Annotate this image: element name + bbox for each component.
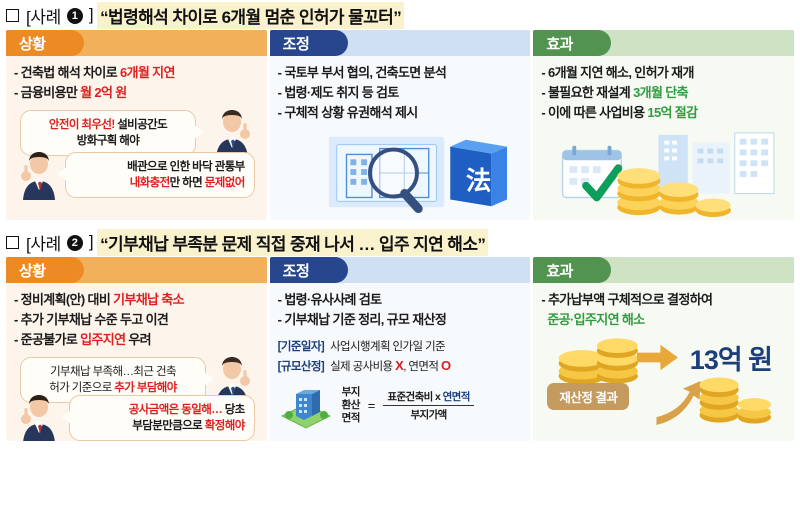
bullet-text: - 정비계획(안) 대비 (14, 292, 113, 307)
equals-sign: = (368, 398, 376, 413)
infographic-page: [사례 1 ] “법령해석 차이로 6개월 멈춘 인허가 물꼬터” 상황 - 건… (0, 0, 800, 526)
header-label: 효과 (546, 33, 573, 54)
speech-bubble: 배관으로 인한 바닥 관통부 내화충전만 하면 문제없어 (65, 152, 255, 199)
bullet-highlight: 월 2억 원 (80, 85, 126, 100)
dialogue-area: 안전이 최우선! 설비공간도 방화구획 해야 (14, 108, 259, 200)
dialogue-area: 기부채납 부족해…최근 건축 허가 기준으로 추가 부담해야 (14, 355, 259, 441)
curved-arrow-icon (657, 381, 701, 425)
header-label: 상황 (19, 33, 46, 54)
case-1-title: “법령해석 차이로 6개월 멈춘 인허가 물꼬터” (97, 2, 404, 29)
result-amount: 13억 원 (690, 338, 772, 377)
bubble-text: 방화구획 해야 (77, 135, 139, 147)
bullet-text: - 준공불가로 (14, 332, 80, 347)
formula-left-line: 면적 (342, 412, 360, 425)
criteria-list: [기준일자] 사업시행계획 인가일 기준 [규모산정] 실제 공사비용 X, 연… (278, 339, 523, 377)
bubble-highlight: 추가 부담해야 (114, 382, 176, 394)
case-1-effect-panel: 효과 - 6개월 지연 해소, 인허가 재개 - 불필요한 재설계 3개월 단축… (533, 30, 794, 220)
criteria-row: [기준일자] 사업시행계획 인가일 기준 (278, 339, 523, 356)
case-1-adjustment-panel: 조정 - 국토부 부서 협의, 건축도면 분석 - 법령·제도 취지 등 검토 … (270, 30, 531, 220)
bubble-highlight: 내화충전 (130, 177, 170, 189)
official-avatar (210, 108, 254, 158)
bullet-highlight: 15억 절감 (647, 105, 697, 120)
x-mark-icon: X (395, 358, 403, 373)
bullet-text: - 금융비용만 (14, 85, 80, 100)
bullet-item: - 금융비용만 월 2억 원 (14, 83, 259, 103)
bullet-item: - 정비계획(안) 대비 기부채납 축소 (14, 290, 259, 310)
formula-left-line: 환산 (342, 399, 360, 412)
bullet-highlight: 3개월 단축 (633, 85, 688, 100)
bubble-text: 부담분만큼으로 (132, 420, 204, 432)
coins-icon-result (700, 377, 771, 423)
bubble-highlight: 공사금액은 동일해… (129, 404, 222, 416)
case-1-number-badge: 1 (67, 8, 83, 24)
formula-left-term: 부지 환산 면적 (342, 386, 360, 424)
situation-body: - 건축법 해석 차이로 6개월 지연 - 금융비용만 월 2억 원 안전이 최… (6, 56, 267, 200)
recalculation-result: 13억 원 재산정 결과 (541, 332, 786, 428)
case-1-situation-panel: 상황 - 건축법 해석 차이로 6개월 지연 - 금융비용만 월 2억 원 안전… (6, 30, 267, 220)
official-avatar (17, 150, 61, 200)
situation-body: - 정비계획(안) 대비 기부채납 축소 - 추가 기부채납 수준 두고 이견 … (6, 283, 267, 440)
header-tab: 효과 (533, 257, 611, 283)
effect-header: 효과 (533, 257, 794, 283)
numerator-text: 표준건축비 x (387, 391, 442, 403)
bullet-item: - 구체적 상황 유권해석 제시 (278, 103, 523, 123)
bullet-item: - 법령·제도 취지 등 검토 (278, 83, 523, 103)
effect-body: - 추가납부액 구체적으로 결정하여 준공·입주지연 해소 (533, 283, 794, 428)
case-2-effect-panel: 효과 - 추가납부액 구체적으로 결정하여 준공·입주지연 해소 (533, 257, 794, 440)
bullet-highlight: 입주지연 (80, 332, 125, 347)
adjustment-body: - 법령·유사사례 검토 - 기부채납 기준 정리, 규모 재산정 [기준일자]… (270, 283, 531, 428)
case-2-title: “기부채납 부족분 문제 직접 중재 나서 … 입주 지연 해소” (97, 229, 488, 256)
bubble-text: 만 하면 (170, 177, 205, 189)
bubble-text: 설비공간도 (115, 119, 168, 131)
calendar-coins-buildings-illustration (541, 128, 786, 220)
right-arrow-icon (637, 345, 678, 370)
bullet-item: - 법령·유사사례 검토 (278, 290, 523, 310)
coins-icon-large (559, 338, 638, 384)
situation-header: 상황 (6, 257, 267, 283)
formula-fraction: 표준건축비 x 연면적 부지가액 (383, 389, 473, 422)
recalculation-label: 재산정 결과 (547, 383, 629, 410)
numerator-highlight: 연면적 (443, 391, 470, 403)
effect-body: - 6개월 지연 해소, 인허가 재개 - 불필요한 재설계 3개월 단축 - … (533, 56, 794, 220)
bubble-tail-icon (194, 125, 204, 139)
bullet-highlight: 6개월 지연 (120, 65, 175, 80)
header-label: 효과 (546, 260, 573, 281)
conversion-formula: 부지 환산 면적 = 표준건축비 x 연면적 부지가액 (278, 382, 523, 428)
criteria-text: 실제 공사비용 (330, 361, 395, 373)
bubble-highlight: 확정해야 (205, 420, 245, 432)
header-label: 상황 (19, 260, 46, 281)
site-3d-illustration (278, 382, 334, 428)
criteria-value: 실제 공사비용 X, 연면적 O (330, 356, 450, 376)
bullet-item: - 추가납부액 구체적으로 결정하여 (541, 290, 786, 310)
case-2-heading: [사례 2 ] “기부채납 부족분 문제 직접 중재 나서 … 입주 지연 해소… (0, 227, 800, 257)
criteria-text: , 연면적 (403, 361, 441, 373)
o-mark-icon: O (441, 358, 451, 373)
bubble-text: 당초 (222, 404, 245, 416)
blueprint-magnifier-lawbook-illustration: 法 (278, 128, 523, 220)
criteria-key: [규모산정] (278, 359, 324, 376)
bubble-text: 배관으로 인한 바닥 관통부 (127, 161, 245, 173)
bubble-highlight: 문제없어 (205, 177, 245, 189)
bullet-text: - 불필요한 재설계 (541, 85, 633, 100)
header-tab: 조정 (270, 30, 348, 56)
adjustment-header: 조정 (270, 257, 531, 283)
case-2-situation-panel: 상황 - 정비계획(안) 대비 기부채납 축소 - 추가 기부채납 수준 두고 … (6, 257, 267, 440)
case-2-label-prefix: [사례 (26, 230, 61, 255)
formula-numerator: 표준건축비 x 연면적 (383, 389, 473, 406)
case-1-label-prefix: [사례 (26, 3, 61, 28)
bullet-item: 준공·입주지연 해소 (541, 310, 786, 330)
checkbox-icon (6, 9, 19, 22)
formula-left-line: 부지 (342, 386, 360, 399)
bullet-item: - 6개월 지연 해소, 인허가 재개 (541, 63, 786, 83)
effect-header: 효과 (533, 30, 794, 56)
situation-header: 상황 (6, 30, 267, 56)
bullet-text: - 이에 따른 사업비용 (541, 105, 647, 120)
bullet-item: - 준공불가로 입주지연 우려 (14, 330, 259, 350)
case-1-heading: [사례 1 ] “법령해석 차이로 6개월 멈춘 인허가 물꼬터” (0, 0, 800, 30)
case-2-number-badge: 2 (67, 235, 83, 251)
adjustment-header: 조정 (270, 30, 531, 56)
formula-denominator: 부지가액 (383, 406, 473, 422)
bubble-highlight: 안전이 최우선! (49, 119, 115, 131)
header-tab: 상황 (6, 30, 84, 56)
bullet-item: - 기부채납 기준 정리, 규모 재산정 (278, 310, 523, 330)
header-tab: 효과 (533, 30, 611, 56)
official-avatar (17, 393, 61, 441)
header-tab: 조정 (270, 257, 348, 283)
adjustment-body: - 국토부 부서 협의, 건축도면 분석 - 법령·제도 취지 등 검토 - 구… (270, 56, 531, 220)
checkbox-icon (6, 236, 19, 249)
bullet-item: - 건축법 해석 차이로 6개월 지연 (14, 63, 259, 83)
header-tab: 상황 (6, 257, 84, 283)
bullet-text: - 건축법 해석 차이로 (14, 65, 120, 80)
case-2-adjustment-panel: 조정 - 법령·유사사례 검토 - 기부채납 기준 정리, 규모 재산정 [기준… (270, 257, 531, 440)
bullet-highlight: 기부채납 축소 (113, 292, 184, 307)
criteria-value: 사업시행계획 인가일 기준 (330, 339, 445, 356)
bubble-text: 기부채납 부족해…최근 건축 (50, 366, 176, 378)
case-2-panels: 상황 - 정비계획(안) 대비 기부채납 축소 - 추가 기부채납 수준 두고 … (0, 257, 800, 440)
bullet-item: - 이에 따른 사업비용 15억 절감 (541, 103, 786, 123)
case-1-panels: 상황 - 건축법 해석 차이로 6개월 지연 - 금융비용만 월 2억 원 안전… (0, 30, 800, 220)
case-2-label-suffix: ] (89, 232, 93, 252)
criteria-key: [기준일자] (278, 339, 324, 356)
bullet-item: - 국토부 부서 협의, 건축도면 분석 (278, 63, 523, 83)
bubble-tail-icon (61, 410, 71, 424)
case-1-label-suffix: ] (89, 5, 93, 25)
bullet-item: - 불필요한 재설계 3개월 단축 (541, 83, 786, 103)
lawbook-character: 法 (466, 166, 491, 196)
header-label: 조정 (283, 33, 310, 54)
speech-bubble: 공사금액은 동일해… 당초 부담분만큼으로 확정해야 (69, 395, 255, 441)
header-label: 조정 (283, 260, 310, 281)
criteria-row: [규모산정] 실제 공사비용 X, 연면적 O (278, 356, 523, 376)
bullet-text: 우려 (125, 332, 151, 347)
calendar-icon (563, 146, 622, 198)
bullet-item: - 추가 기부채납 수준 두고 이견 (14, 310, 259, 330)
